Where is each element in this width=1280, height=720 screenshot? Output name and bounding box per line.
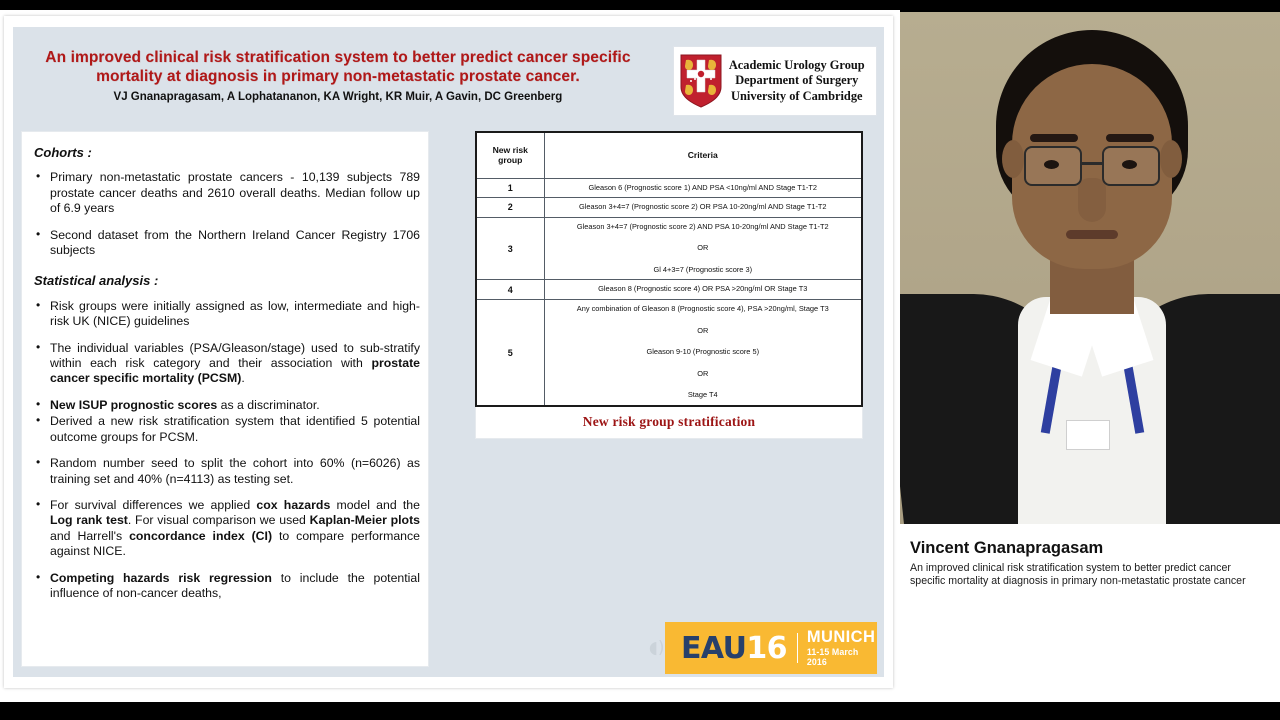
cell-criteria: Gleason 8 (Prognostic score 4) OR PSA >2… [544,280,862,300]
glasses-bridge [1082,162,1102,165]
table-row: 4 Gleason 8 (Prognostic score 4) OR PSA … [476,280,862,300]
list-item: Second dataset from the Northern Ireland… [34,228,420,259]
list-item: New ISUP prognostic scores as a discrimi… [34,398,420,413]
eau-brand-text: EAU [681,631,746,666]
eye-right-shape [1122,160,1137,169]
risk-table-container: New risk group Criteria 1 Gleason 6 (Pro… [475,131,865,439]
column-header-criteria: Criteria [544,132,862,178]
section-heading-statistical-analysis: Statistical analysis : [34,273,420,288]
logo-line-1: Academic Urology Group [729,58,865,73]
cell-criteria: Any combination of Gleason 8 (Prognostic… [544,300,862,406]
cell-risk-group: 1 [476,178,544,198]
ear-left-shape [1002,140,1024,178]
slide-frame: An improved clinical risk stratification… [4,16,893,688]
cohorts-bullet-list: Primary non-metastatic prostate cancers … [34,170,420,258]
list-item: The individual variables (PSA/Gleason/st… [34,341,420,387]
eyebrow-left-shape [1030,134,1078,142]
university-logo: Academic Urology Group Department of Sur… [673,46,877,116]
cell-criteria: Gleason 3+4=7 (Prognostic score 2) AND P… [544,217,862,280]
table-caption: New risk group stratification [475,407,863,439]
cambridge-coat-of-arms-icon [680,54,722,108]
table-row: 3 Gleason 3+4=7 (Prognostic score 2) AND… [476,217,862,280]
eau-year-text: 16 [746,631,787,666]
conference-badge-shape [1066,420,1110,450]
logo-line-2: Department of Surgery [729,73,865,88]
speaker-name: Vincent Gnanapragasam [910,538,1268,558]
eau-congress-logo: EAU16 MUNICH 11-15 March 2016 [665,622,877,674]
slide-text-column: Cohorts : Primary non-metastatic prostat… [21,131,429,667]
column-header-new-risk-group: New risk group [476,132,544,178]
slide-header-text: An improved clinical risk stratification… [21,46,655,105]
table-header-row: New risk group Criteria [476,132,862,178]
section-heading-cohorts: Cohorts : [34,145,420,160]
eye-left-shape [1044,160,1059,169]
cell-risk-group: 4 [476,280,544,300]
table-row: 2 Gleason 3+4=7 (Prognostic score 2) OR … [476,198,862,218]
list-item: Random number seed to split the cohort i… [34,456,420,487]
table-row: 5 Any combination of Gleason 8 (Prognost… [476,300,862,406]
list-item: Competing hazards risk regression to inc… [34,571,420,602]
logo-line-3: University of Cambridge [729,89,865,104]
cell-risk-group: 2 [476,198,544,218]
speaker-video[interactable] [900,12,1280,524]
speaker-video-pane[interactable]: Vincent Gnanapragasam An improved clinic… [900,0,1280,720]
video-letterbox-top [900,0,1280,12]
ear-right-shape [1160,140,1182,178]
risk-stratification-table: New risk group Criteria 1 Gleason 6 (Pro… [475,131,863,407]
list-item: Primary non-metastatic prostate cancers … [34,170,420,216]
slide-header: An improved clinical risk stratification… [21,46,877,124]
list-item: For survival differences we applied cox … [34,498,420,560]
nose-shape [1078,178,1106,222]
slide-pane[interactable]: An improved clinical risk stratification… [0,10,900,702]
letterbox-bottom [0,702,1280,720]
table-body: 1 Gleason 6 (Prognostic score 1) AND PSA… [476,178,862,406]
eau-location-block: MUNICH 11-15 March 2016 [807,629,877,667]
talk-title: An improved clinical risk stratification… [910,562,1268,589]
cell-risk-group: 5 [476,300,544,406]
video-player: An improved clinical risk stratification… [0,0,1280,720]
university-logo-text: Academic Urology Group Department of Sur… [729,58,865,104]
cell-criteria: Gleason 6 (Prognostic score 1) AND PSA <… [544,178,862,198]
eau-wordmark: EAU16 [681,631,787,666]
table-row: 1 Gleason 6 (Prognostic score 1) AND PSA… [476,178,862,198]
table-header: New risk group Criteria [476,132,862,178]
presentation-slide: An improved clinical risk stratification… [13,27,884,677]
slide-title: An improved clinical risk stratification… [21,48,655,86]
slide-authors: VJ Gnanapragasam, A Lophatananon, KA Wri… [21,90,655,105]
eau-city: MUNICH [807,629,877,646]
speaker-caption: Vincent Gnanapragasam An improved clinic… [900,524,1280,589]
mouth-shape [1066,230,1118,239]
eau-divider [797,633,798,663]
cell-criteria: Gleason 3+4=7 (Prognostic score 2) OR PS… [544,198,862,218]
eau-dates: 11-15 March 2016 [807,648,877,666]
statistical-analysis-bullet-list: Risk groups were initially assigned as l… [34,299,420,602]
list-item: Derived a new risk stratification system… [34,414,420,445]
eyebrow-right-shape [1106,134,1154,142]
list-item: Risk groups were initially assigned as l… [34,299,420,330]
cell-risk-group: 3 [476,217,544,280]
